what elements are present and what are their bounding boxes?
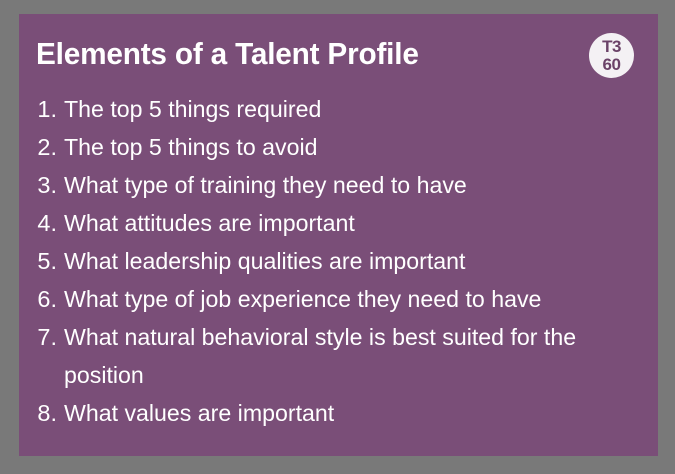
logo-line-bottom: 60 xyxy=(603,56,621,73)
list-item-number: 8. xyxy=(30,394,57,432)
list-item: 1.The top 5 things required xyxy=(19,90,658,128)
list-item-label: What type of job experience they need to… xyxy=(64,280,649,318)
list-item: 3.What type of training they need to hav… xyxy=(19,166,658,204)
list-item-label: The top 5 things required xyxy=(64,90,649,128)
page-title: Elements of a Talent Profile xyxy=(36,36,419,72)
content-panel: Elements of a Talent Profile T3 60 1.The… xyxy=(19,14,658,456)
list-item: 5.What leadership qualities are importan… xyxy=(19,242,658,280)
logo-line-top: T3 xyxy=(602,38,621,55)
slide-canvas: Elements of a Talent Profile T3 60 1.The… xyxy=(0,0,675,474)
list-item-label: The top 5 things to avoid xyxy=(64,128,649,166)
list-item-label: What leadership qualities are important xyxy=(64,242,649,280)
list-item-number: 3. xyxy=(30,166,57,204)
list-item-number: 7. xyxy=(30,318,57,356)
list-item: 4.What attitudes are important xyxy=(19,204,658,242)
t360-logo-icon: T3 60 xyxy=(589,33,634,78)
list-item: 6.What type of job experience they need … xyxy=(19,280,658,318)
numbered-list: 1.The top 5 things required2.The top 5 t… xyxy=(19,90,658,432)
list-item-label: What attitudes are important xyxy=(64,204,649,242)
list-item: 2.The top 5 things to avoid xyxy=(19,128,658,166)
list-item-label: What values are important xyxy=(64,394,649,432)
list-item-number: 4. xyxy=(30,204,57,242)
list-item: 8.What values are important xyxy=(19,394,658,432)
list-item-label: What natural behavioral style is best su… xyxy=(64,318,649,394)
slide-header: Elements of a Talent Profile T3 60 xyxy=(19,14,658,90)
list-item-number: 1. xyxy=(30,90,57,128)
list-item-number: 6. xyxy=(30,280,57,318)
list-item-label: What type of training they need to have xyxy=(64,166,649,204)
list-item-number: 5. xyxy=(30,242,57,280)
list-item-number: 2. xyxy=(30,128,57,166)
list-item: 7.What natural behavioral style is best … xyxy=(19,318,658,394)
